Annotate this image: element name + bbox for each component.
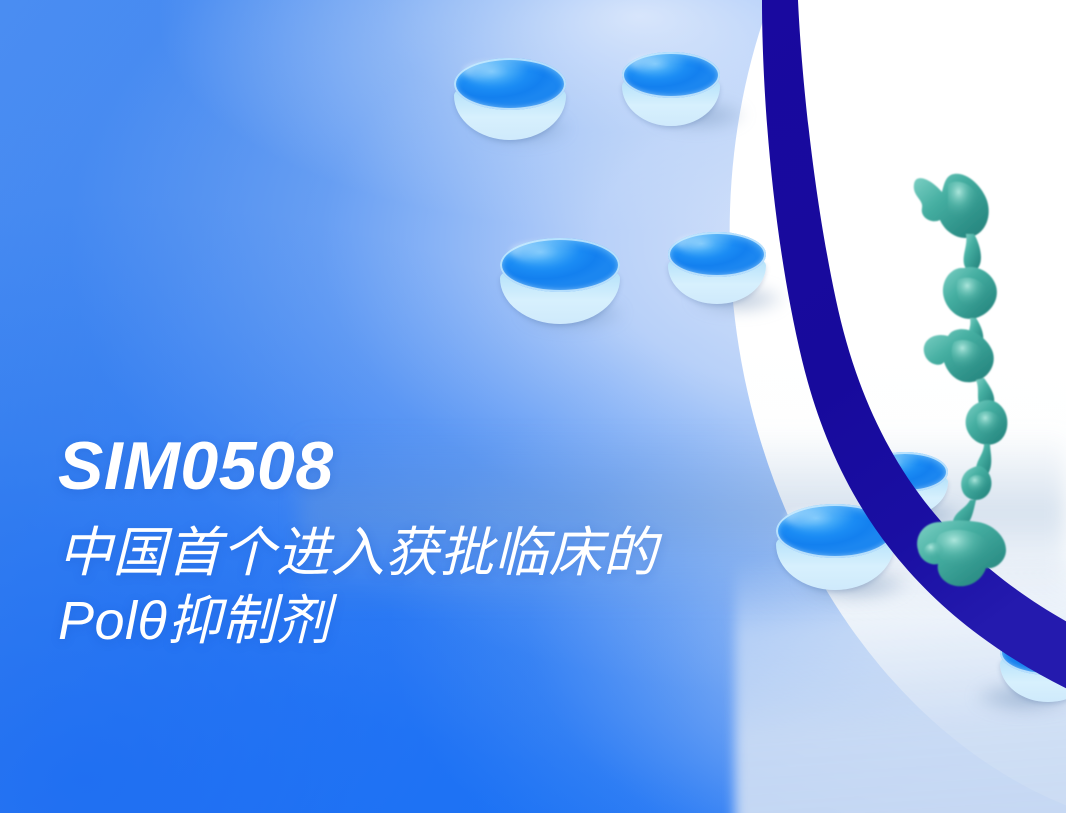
page-title: SIM0508 — [58, 432, 878, 500]
tablet-rim — [500, 238, 620, 292]
tablet-4 — [668, 232, 766, 304]
subtitle-line-2: Polθ抑制剂 — [58, 586, 878, 656]
poster-canvas: SIM0508 中国首个进入获批临床的 Polθ抑制剂 — [0, 0, 1066, 813]
tablet-2 — [622, 52, 720, 126]
tablet-rim — [454, 58, 566, 110]
tablet-7 — [1000, 630, 1066, 702]
tablet-1 — [454, 58, 566, 140]
poster-text-block: SIM0508 中国首个进入获批临床的 Polθ抑制剂 — [58, 432, 878, 656]
tablet-3 — [500, 238, 620, 324]
tablet-rim — [622, 52, 720, 98]
subtitle-line-1: 中国首个进入获批临床的 — [58, 518, 878, 588]
protein-structure — [896, 150, 1056, 590]
tablet-rim — [668, 232, 766, 277]
